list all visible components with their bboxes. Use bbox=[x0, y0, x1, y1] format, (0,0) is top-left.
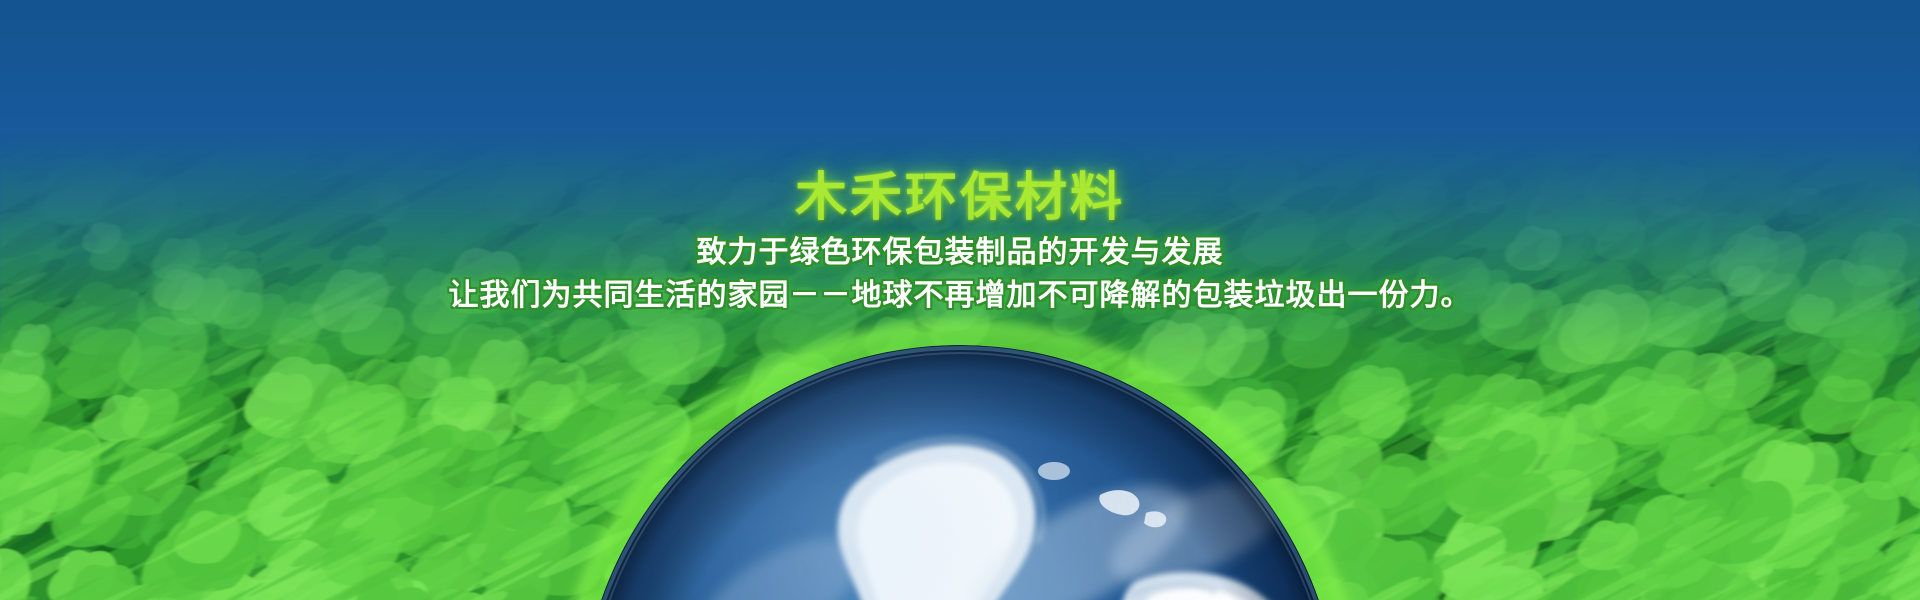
page-title: 木禾环保材料 bbox=[0, 170, 1920, 226]
earth-globe bbox=[580, 345, 1340, 600]
hero-banner: 木禾环保材料 致力于绿色环保包装制品的开发与发展 让我们为共同生活的家园－－地球… bbox=[0, 0, 1920, 600]
globe-sphere bbox=[580, 345, 1340, 600]
tagline-primary: 致力于绿色环保包装制品的开发与发展 bbox=[0, 236, 1920, 270]
banner-copy: 木禾环保材料 致力于绿色环保包装制品的开发与发展 让我们为共同生活的家园－－地球… bbox=[0, 0, 1920, 314]
tagline-secondary: 让我们为共同生活的家园－－地球不再增加不可降解的包装垃圾出一份力。 bbox=[0, 278, 1920, 314]
